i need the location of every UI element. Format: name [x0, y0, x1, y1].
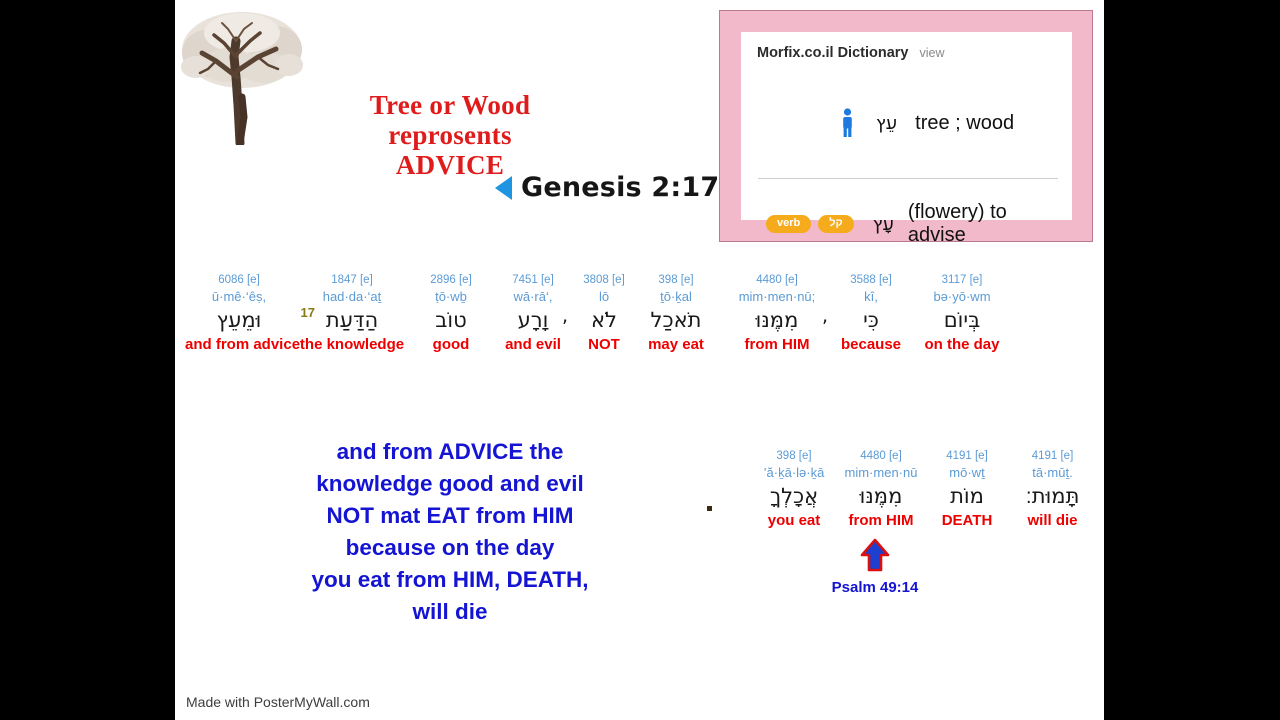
- english-gloss: may eat: [633, 335, 719, 355]
- transliteration: bə·yō·wm: [907, 288, 1017, 305]
- strongs-number: 3808 [e]: [575, 273, 633, 288]
- english-gloss: on the day: [907, 335, 1017, 355]
- interlinear-row: 398 [e]’ă·ḵā·lə·ḵāאֲכָלְךָyou eat4480 [e…: [750, 449, 1095, 531]
- person-icon: [833, 108, 861, 138]
- hebrew-word: טוֹב: [411, 305, 491, 335]
- interlinear-word: 3117 [e]bə·yō·wmבְּיוֹםon the day: [907, 273, 1017, 355]
- trailing-comma: ,: [822, 305, 828, 327]
- english-gloss: and from advice: [185, 335, 293, 355]
- transliteration: wā·rā‘,: [491, 288, 575, 305]
- hebrew-word: לֹא: [575, 305, 633, 335]
- english-gloss: and evil: [491, 335, 575, 355]
- strongs-number: 4191 [e]: [924, 449, 1010, 464]
- hebrew-word: הַדַּעַת: [293, 305, 411, 335]
- scripture-reference: Genesis 2:17: [495, 172, 719, 203]
- english-gloss: NOT: [575, 335, 633, 355]
- english-gloss: DEATH: [924, 511, 1010, 531]
- transliteration: ’ă·ḵā·lə·ḵā: [750, 464, 838, 481]
- strongs-number: 4191 [e]: [1010, 449, 1095, 464]
- strongs-number: 398 [e]: [633, 273, 719, 288]
- strongs-number: 3117 [e]: [907, 273, 1017, 288]
- transliteration: mō·wṯ: [924, 464, 1010, 481]
- strongs-number: 4480 [e]: [719, 273, 835, 288]
- interlinear-word: 3588 [e]kî,כִּיbecause,: [835, 273, 907, 355]
- interlinear-word: 3808 [e]lōלֹאNOT,: [575, 273, 633, 355]
- interlinear-word: 4191 [e]tā·mūṯ.תָּמוּת׃will die: [1010, 449, 1095, 531]
- strongs-number: 6086 [e]: [185, 273, 293, 288]
- psalm-reference-label: Psalm 49:14: [820, 579, 930, 596]
- morfix-noun-gloss: tree ; wood: [915, 112, 1014, 135]
- transliteration: mim·men·nū: [838, 464, 924, 481]
- interlinear-word: 398 [e]’ă·ḵā·lə·ḵāאֲכָלְךָyou eat: [750, 449, 838, 531]
- transliteration: ū·mê·‘êṣ,: [185, 288, 293, 305]
- hebrew-word: תֹאכַל: [633, 305, 719, 335]
- badge-binyan: קל: [818, 215, 853, 233]
- morfix-dictionary-panel: Morfix.co.il Dictionary view עֵץ tree ; …: [719, 10, 1093, 242]
- badge-verb: verb: [766, 215, 811, 233]
- strongs-number: 1847 [e]: [293, 273, 411, 288]
- transliteration: tā·mūṯ.: [1010, 464, 1095, 481]
- strongs-number: 7451 [e]: [491, 273, 575, 288]
- hebrew-word: כִּי: [835, 305, 907, 335]
- strongs-number: 2896 [e]: [411, 273, 491, 288]
- sof-pasuq-mark: [707, 506, 712, 511]
- paraphrase-line: will die: [270, 596, 630, 628]
- english-gloss: good: [411, 335, 491, 355]
- scripture-reference-label: Genesis 2:17: [521, 172, 719, 203]
- paraphrase-line: you eat from HIM, DEATH,: [270, 564, 630, 596]
- watermark: Made with PosterMyWall.com: [186, 694, 370, 710]
- english-gloss: because: [835, 335, 907, 355]
- paraphrase-line: because on the day: [270, 532, 630, 564]
- interlinear-word: 6086 [e]ū·mê·‘êṣ,וּמֵעֵץand from advice1…: [185, 273, 293, 355]
- hebrew-word: בְּיוֹם: [907, 305, 1017, 335]
- morfix-title: Morfix.co.il Dictionary: [757, 45, 908, 61]
- interlinear-word: 398 [e]ṯō·ḵalתֹאכַלmay eat: [633, 273, 719, 355]
- heading-line-2: reprosents: [320, 120, 580, 150]
- english-gloss: the knowledge: [293, 335, 411, 355]
- morfix-verb-gloss: (flowery) to advise: [908, 201, 1060, 247]
- transliteration: ṯō·ḵal: [633, 288, 719, 305]
- hebrew-word: וּמֵעֵץ: [185, 305, 293, 335]
- transliteration: lō: [575, 288, 633, 305]
- transliteration: mim·men·nū;: [719, 288, 835, 305]
- interlinear-word: 4480 [e]mim·men·nūמִמֶּנּוּfrom HIM: [838, 449, 924, 531]
- english-gloss: from HIM: [838, 511, 924, 531]
- english-gloss: you eat: [750, 511, 838, 531]
- trailing-comma: ,: [562, 305, 568, 327]
- interlinear-word: 4191 [e]mō·wṯמוֹתDEATH: [924, 449, 1010, 531]
- psalm-annotation: Psalm 49:14: [820, 538, 930, 596]
- tree-illustration: [180, 5, 305, 145]
- morfix-verb-hebrew: עָץ: [873, 214, 894, 235]
- morfix-divider: [758, 178, 1058, 179]
- english-gloss: from HIM: [719, 335, 835, 355]
- paraphrase-block: and from ADVICE theknowledge good and ev…: [270, 436, 630, 628]
- morfix-noun-hebrew: עֵץ: [876, 113, 897, 134]
- left-triangle-icon: [495, 176, 512, 200]
- transliteration: ṭō·wḇ: [411, 288, 491, 305]
- hebrew-word: מִמֶּנּוּ: [838, 481, 924, 511]
- english-gloss: will die: [1010, 511, 1095, 531]
- transliteration: kî,: [835, 288, 907, 305]
- transliteration: had·da·‘aṯ: [293, 288, 411, 305]
- interlinear-word: 2896 [e]ṭō·wḇטוֹבgood: [411, 273, 491, 355]
- hebrew-word: מִמֶּנּוּ: [719, 305, 835, 335]
- morfix-card: Morfix.co.il Dictionary view עֵץ tree ; …: [741, 32, 1072, 220]
- morfix-noun-entry: עֵץ tree ; wood: [757, 108, 1058, 138]
- paraphrase-line: knowledge good and evil: [270, 468, 630, 500]
- hebrew-word: אֲכָלְךָ: [750, 481, 838, 511]
- interlinear-word: 1847 [e]had·da·‘aṯהַדַּעַתthe knowledge: [293, 273, 411, 355]
- heading-line-1: Tree or Wood: [320, 90, 580, 120]
- page-title: Tree or Wood reprosents ADVICE: [320, 90, 580, 180]
- strongs-number: 3588 [e]: [835, 273, 907, 288]
- poster-canvas: Tree or Wood reprosents ADVICE Genesis 2…: [175, 0, 1104, 720]
- hebrew-word: תָּמוּת׃: [1010, 481, 1095, 511]
- up-arrow-icon: [820, 538, 930, 577]
- morfix-view-link[interactable]: view: [919, 46, 944, 60]
- morfix-titlebar: Morfix.co.il Dictionary view: [757, 45, 1056, 61]
- strongs-number: 398 [e]: [750, 449, 838, 464]
- interlinear-word: 4480 [e]mim·men·nū;מִמֶּנּוּfrom HIM: [719, 273, 835, 355]
- paraphrase-line: NOT mat EAT from HIM: [270, 500, 630, 532]
- hebrew-word: מוֹת: [924, 481, 1010, 511]
- strongs-number: 4480 [e]: [838, 449, 924, 464]
- morfix-verb-entry: verb קל עָץ (flowery) to advise: [766, 201, 1060, 247]
- interlinear-row: 6086 [e]ū·mê·‘êṣ,וּמֵעֵץand from advice1…: [185, 273, 1095, 355]
- paraphrase-line: and from ADVICE the: [270, 436, 630, 468]
